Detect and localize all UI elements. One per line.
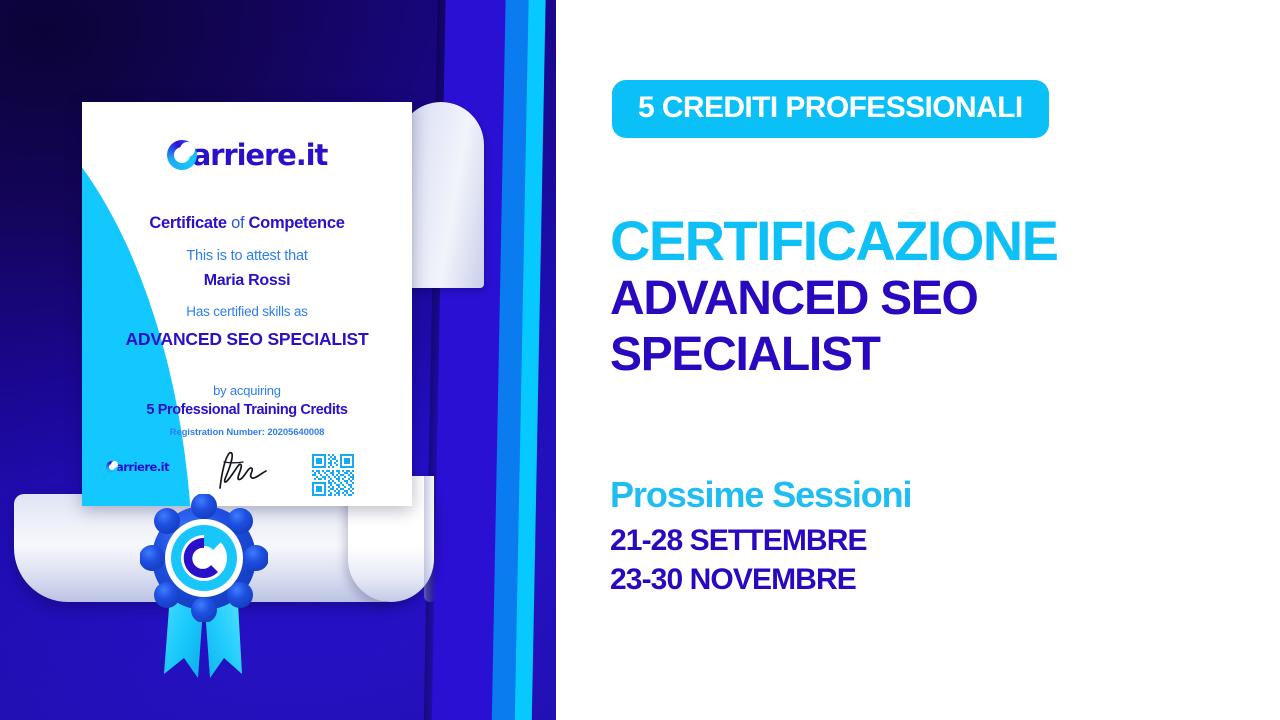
certificate-footer: arriere.it [82, 454, 412, 494]
scroll-curl-edge [424, 476, 436, 602]
award-medal-seal [124, 494, 284, 694]
brand-logo-text: arriere.it [192, 141, 328, 170]
carriere-c-icon [167, 140, 197, 170]
carriere-c-mini-icon [106, 461, 118, 473]
headline-block: CERTIFICAZIONE ADVANCED SEO SPECIALIST [610, 212, 1250, 382]
headline-line-1: CERTIFICAZIONE [610, 212, 1250, 269]
certificate-footer-logo: arriere.it [106, 460, 169, 474]
credits-badge: 5 CREDITI PROFESSIONALI [612, 80, 1049, 138]
certificate-role: ADVANCED SEO SPECIALIST [82, 328, 412, 351]
certificate-registration-number: Registration Number: 20205640008 [82, 428, 412, 439]
medal-badge-icon [140, 494, 268, 622]
certificate-credits-line: 5 Professional Training Credits [82, 402, 412, 418]
certificate-recipient-name: Maria Rossi [82, 272, 412, 290]
certificate-title-part-1: Certificate [149, 214, 226, 232]
signature-icon [208, 448, 278, 492]
certificate-title-part-2: Competence [249, 214, 345, 232]
certificate-title: Certificate of Competence [82, 214, 412, 232]
certificate-skills-label: Has certified skills as [82, 304, 412, 319]
headline-line-2: ADVANCED SEO [610, 271, 1250, 327]
promo-banner: arriere.it Certificate of Competence Thi… [0, 0, 1280, 720]
session-date-2: 23-30 NOVEMBRE [610, 560, 1250, 600]
headline-line-3: SPECIALIST [610, 327, 1250, 383]
certificate-visual-panel: arriere.it Certificate of Competence Thi… [0, 0, 556, 720]
certificate-footer-logo-text: arriere.it [116, 460, 169, 474]
certificate-title-connector: of [227, 214, 249, 232]
certificate-attest-label: This is to attest that [82, 248, 412, 264]
session-date-1: 21-28 SETTEMBRE [610, 521, 1250, 561]
sessions-block: Prossime Sessioni 21-28 SETTEMBRE 23-30 … [610, 475, 1250, 600]
certificate-brand-logo: arriere.it [82, 140, 412, 175]
certificate-scroll: arriere.it Certificate of Competence Thi… [20, 96, 490, 666]
certificate-by-acquiring-label: by acquiring [82, 384, 412, 399]
qr-code-icon [312, 454, 354, 496]
promo-content-panel: 5 CREDITI PROFESSIONALI CERTIFICAZIONE A… [556, 0, 1280, 720]
sessions-title: Prossime Sessioni [610, 475, 1250, 515]
certificate-sheet: arriere.it Certificate of Competence Thi… [82, 102, 412, 506]
